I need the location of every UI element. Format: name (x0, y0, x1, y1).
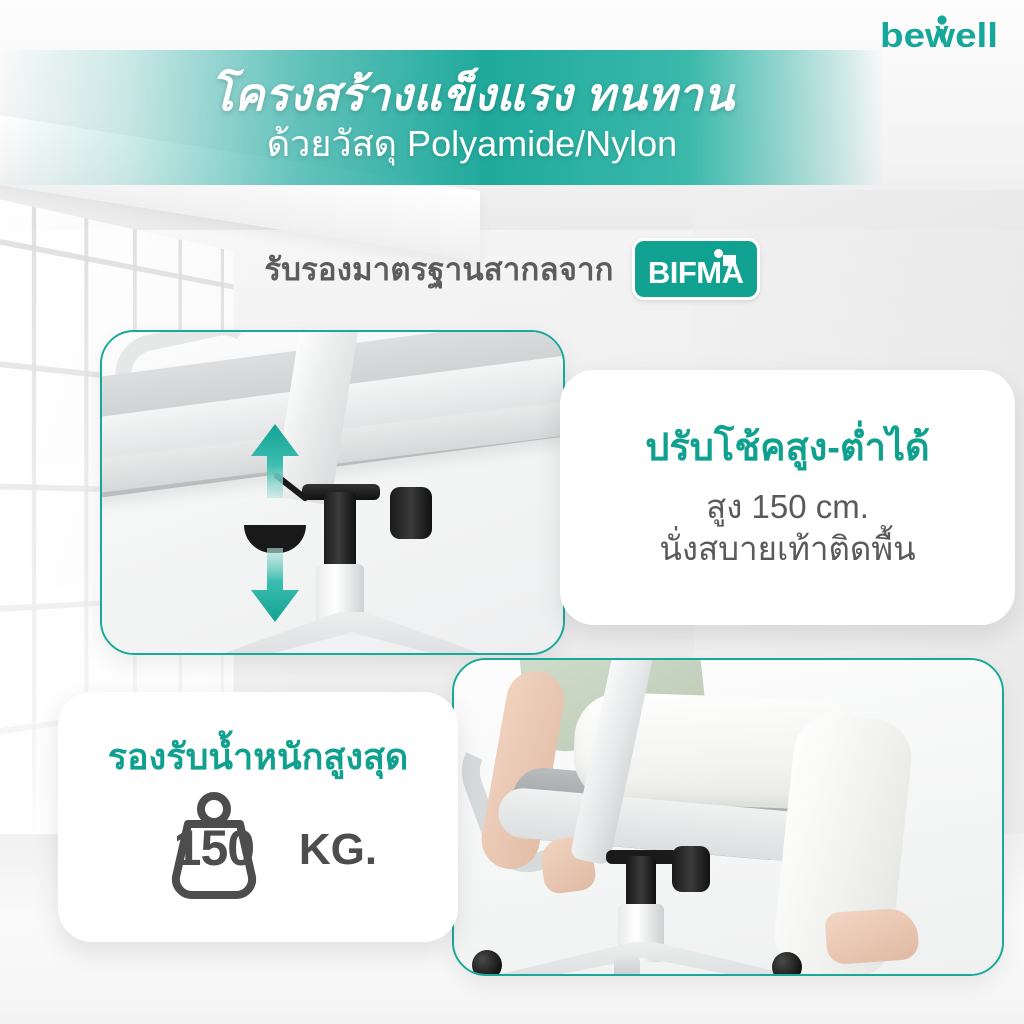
card-height-line2: นั่งสบายเท้าติดพื้น (659, 528, 915, 570)
card-height-title: ปรับโช้คสูง-ต่ำได้ (645, 425, 929, 473)
photo-gas-lift-scene (102, 332, 563, 653)
header-banner: โครงสร้างแข็งแรง ทนทาน ด้วยวัสดุ Polyami… (0, 50, 884, 185)
arrow-up-icon (249, 422, 301, 505)
card-height-line1: สูง 150 cm. (659, 486, 915, 528)
certification-label: รับรองมาตรฐานสากลจาก (264, 244, 613, 294)
weight-icon: 150 (139, 791, 289, 901)
gas-lift-cylinder (324, 492, 356, 570)
photo-gas-lift-closeup (100, 330, 565, 655)
card-height-adjust: ปรับโช้คสูง-ต่ำได้ สูง 150 cm. นั่งสบายเ… (560, 370, 1015, 625)
tilt-tension-knob (390, 487, 432, 539)
photo-person-seated (452, 658, 1004, 976)
bewell-logo: bewell (880, 14, 1002, 58)
bewell-logo-icon: bewell (880, 14, 1002, 58)
photo-person-scene (454, 660, 1002, 974)
certification-row: รับรองมาตรฐานสากลจาก BIFMA (0, 238, 1024, 300)
weight-icon-group: 150 KG. (139, 791, 377, 901)
chair-caster-right (772, 952, 802, 976)
card-max-weight: รองรับน้ำหนักสูงสุด 150 KG. (58, 692, 458, 942)
chair-tension-knob (672, 846, 710, 892)
weight-value: 150 (174, 819, 254, 877)
card-weight-title: รองรับน้ำหนักสูงสุด (108, 734, 409, 779)
weight-unit: KG. (299, 825, 377, 875)
banner-title: โครงสร้างแข็งแรง ทนทาน (210, 70, 735, 120)
chair-caster-left (472, 950, 502, 976)
chair-caster-center (614, 956, 640, 976)
bifma-badge: BIFMA (632, 238, 760, 300)
promo-poster: bewell โครงสร้างแข็งแรง ทนทาน ด้วยวัสดุ … (0, 0, 1024, 1024)
banner-subtitle: ด้วยวัสดุ Polyamide/Nylon (267, 122, 677, 165)
arrow-down-icon (249, 544, 301, 629)
person-foot (824, 907, 919, 965)
